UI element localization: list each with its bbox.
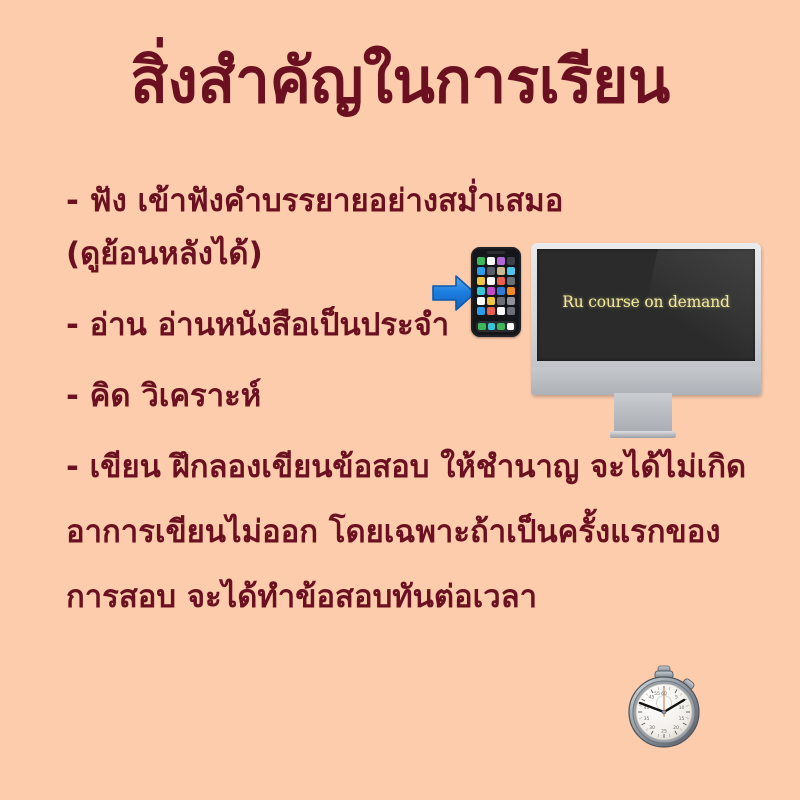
bullet-line-write: - เขียน ฝึกลองเขียนข้อสอบ ให้ชำนาญ จะได้… bbox=[66, 452, 796, 483]
phone-app-icon bbox=[507, 297, 515, 305]
bullet-line-write-cont-2: การสอบ จะได้ทำข้อสอบทันต่อเวลา bbox=[66, 582, 796, 613]
svg-text:30: 30 bbox=[649, 725, 655, 731]
svg-text:35: 35 bbox=[644, 716, 650, 722]
phone-app-icon bbox=[477, 267, 485, 275]
desktop-monitor-illustration: Ru course on demand bbox=[531, 243, 761, 443]
phone-app-icon bbox=[487, 297, 495, 305]
phone-app-icon bbox=[487, 257, 495, 265]
phone-dock-icon bbox=[488, 323, 496, 330]
phone-app-icon bbox=[507, 267, 515, 275]
phone-app-icon bbox=[507, 277, 515, 285]
phone-app-icon bbox=[487, 287, 495, 295]
phone-app-icon bbox=[487, 277, 495, 285]
smartphone-icon bbox=[471, 247, 521, 337]
svg-text:5: 5 bbox=[675, 695, 678, 701]
phone-app-icon bbox=[477, 297, 485, 305]
bullet-line-listen: - ฟัง เข้าฟังคำบรรยายอย่างสม่ำเสมอ bbox=[66, 186, 796, 217]
spacer bbox=[66, 483, 796, 517]
phone-app-icon bbox=[477, 287, 485, 295]
phone-app-icon bbox=[507, 287, 515, 295]
spacer bbox=[66, 548, 796, 582]
phone-dock-icon bbox=[507, 323, 515, 330]
monitor-stand-neck bbox=[614, 393, 672, 433]
phone-app-icon bbox=[487, 307, 495, 315]
phone-app-icon bbox=[497, 297, 505, 305]
screen-caption: Ru course on demand bbox=[537, 293, 755, 311]
svg-text:25: 25 bbox=[661, 729, 667, 735]
svg-text:20: 20 bbox=[673, 725, 679, 731]
phone-app-icon bbox=[477, 257, 485, 265]
phone-app-icon bbox=[497, 287, 505, 295]
bullet-line-write-cont-1: อาการเขียนไม่ออก โดยเฉพาะถ้าเป็นครั้งแรก… bbox=[66, 517, 796, 548]
phone-app-icon bbox=[507, 307, 515, 315]
phone-app-icon bbox=[507, 257, 515, 265]
phone-app-grid bbox=[475, 257, 517, 315]
monitor-stand-foot bbox=[610, 431, 676, 438]
stopwatch-icon: 60 5 10 15 20 25 30 35 40 45 55 bbox=[626, 664, 710, 750]
phone-dock-icon bbox=[497, 323, 505, 330]
phone-app-icon bbox=[497, 277, 505, 285]
phone-app-icon bbox=[487, 267, 495, 275]
phone-app-icon bbox=[477, 277, 485, 285]
phone-app-icon bbox=[497, 257, 505, 265]
phone-app-icon bbox=[497, 267, 505, 275]
monitor-screen: Ru course on demand bbox=[537, 249, 755, 361]
phone-notch bbox=[487, 251, 505, 254]
page-title: สิ่งสำคัญในการเรียน bbox=[0, 48, 800, 113]
phone-app-icon bbox=[497, 307, 505, 315]
phone-app-icon bbox=[477, 307, 485, 315]
phone-dock-icon bbox=[478, 323, 486, 330]
svg-text:55: 55 bbox=[654, 691, 660, 697]
slide-canvas: สิ่งสำคัญในการเรียน - ฟัง เข้าฟังคำบรรยา… bbox=[0, 0, 800, 800]
phone-dock bbox=[476, 321, 516, 332]
monitor-chin bbox=[531, 367, 761, 395]
svg-text:10: 10 bbox=[679, 705, 685, 711]
svg-text:15: 15 bbox=[679, 716, 685, 722]
